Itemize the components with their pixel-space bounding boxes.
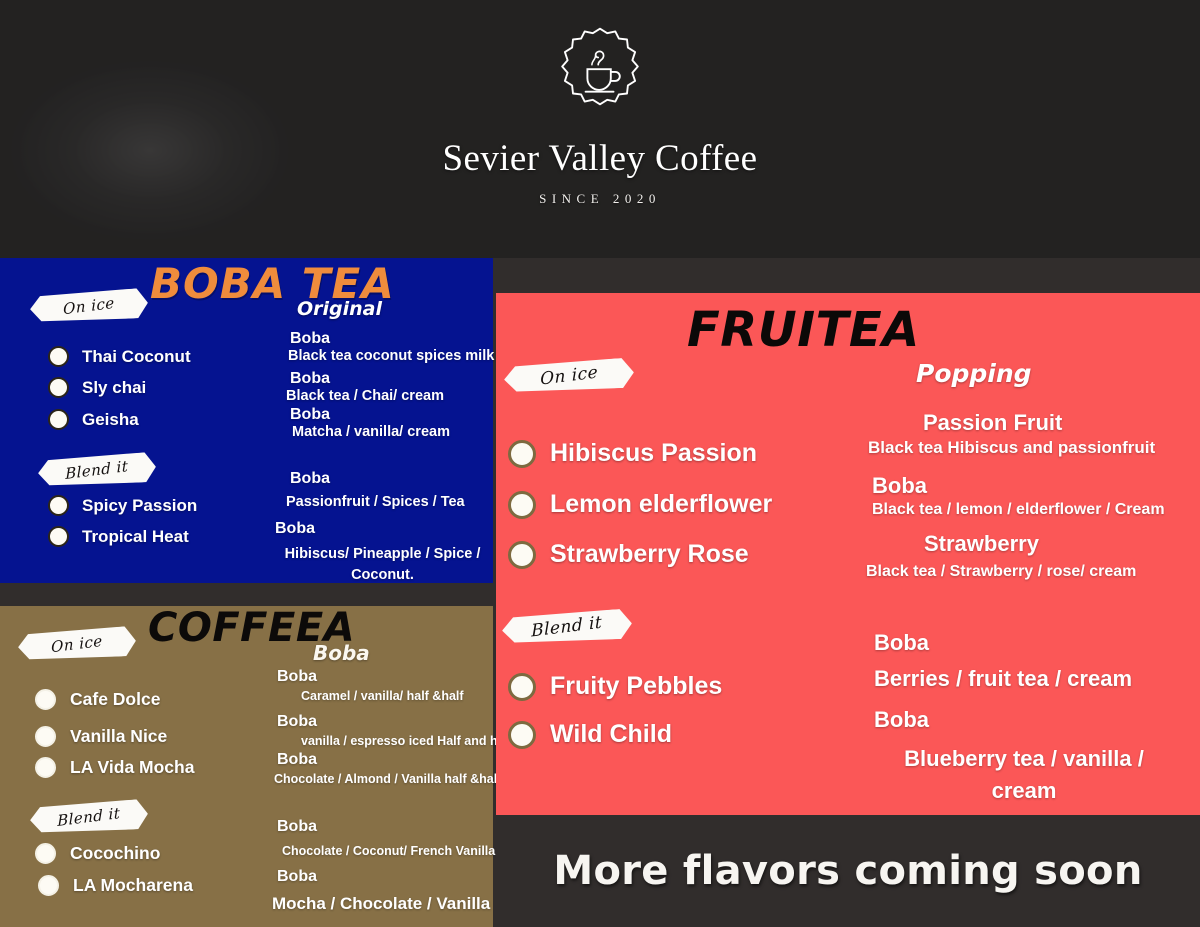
flavor-name: LA Vida Mocha: [70, 757, 194, 778]
recipe-ingredients: Black tea / lemon / elderflower / Cream: [872, 501, 1165, 519]
recipe-thai-coconut: Boba Black tea coconut spices milk: [290, 330, 494, 364]
recipe-label: Boba: [275, 520, 490, 538]
menu-item-wild-child[interactable]: Wild Child: [508, 720, 672, 749]
recipe-ingredients: Black tea / Chai/ cream: [286, 388, 444, 404]
bullet-dot-icon: [35, 757, 56, 778]
recipe-label: Boba: [277, 818, 495, 836]
flavor-name: Lemon elderflower: [550, 490, 772, 519]
menu-item-thai-coconut[interactable]: Thai Coconut: [48, 346, 191, 367]
recipe-ingredients: vanilla / espresso iced Half and half: [301, 734, 512, 748]
menu-item-geisha[interactable]: Geisha: [48, 409, 139, 430]
brand-tagline: SINCE 2020: [539, 191, 661, 207]
recipe-label: Boba: [290, 330, 494, 348]
section-subtitle-boba-tea: Original: [297, 298, 382, 320]
flavor-name: Cafe Dolce: [70, 689, 160, 710]
ribbon-label: On ice: [63, 294, 115, 319]
recipe-lemon-elderflower: Boba Black tea / lemon / elderflower / C…: [872, 473, 1165, 519]
menu-item-hibiscus-passion[interactable]: Hibiscus Passion: [508, 439, 757, 468]
menu-board: Sevier Valley Coffee SINCE 2020 BOBA TEA…: [0, 0, 1200, 927]
section-subtitle-fruitea: Popping: [916, 359, 1032, 388]
bullet-dot-icon: [48, 377, 69, 398]
section-subtitle-coffeea: Boba: [313, 641, 370, 665]
recipe-label: Boba: [874, 707, 1164, 733]
recipe-label: Boba: [290, 406, 450, 424]
recipe-spicy-passion: Boba Passionfruit / Spices / Tea: [290, 470, 465, 510]
recipe-ingredients: Berries / fruit tea / cream: [874, 666, 1132, 692]
bullet-dot-icon: [508, 673, 536, 701]
flavor-name: Thai Coconut: [82, 347, 191, 367]
recipe-tropical-heat: Boba Hibiscus/ Pineapple / Spice / Cocon…: [275, 520, 490, 586]
recipe-label: Boba: [290, 370, 444, 388]
recipe-ingredients: Black tea coconut spices milk: [288, 348, 494, 364]
recipe-ingredients: Mocha / Chocolate / Vanilla: [272, 894, 490, 914]
recipe-ingredients: Caramel / vanilla/ half &half: [301, 689, 464, 703]
menu-item-cafe-dolce[interactable]: Cafe Dolce: [35, 689, 160, 710]
bullet-dot-icon: [48, 346, 69, 367]
recipe-ingredients: Blueberry tea / vanilla / cream: [874, 743, 1164, 807]
recipe-ingredients: Matcha / vanilla/ cream: [292, 424, 450, 440]
recipe-label: Boba: [277, 751, 501, 769]
flavor-name: Wild Child: [550, 720, 672, 749]
footer-message: More flavors coming soon: [553, 848, 1142, 894]
recipe-ingredients: Hibiscus/ Pineapple / Spice / Coconut.: [275, 544, 490, 586]
flavor-name: LA Mocharena: [73, 875, 193, 896]
bullet-dot-icon: [48, 526, 69, 547]
bullet-dot-icon: [38, 875, 59, 896]
recipe-ingredients: Black tea / Strawberry / rose/ cream: [866, 563, 1136, 581]
ribbon-label: Blend it: [57, 804, 120, 830]
recipe-sly-chai: Boba Black tea / Chai/ cream: [290, 370, 444, 404]
ribbon-label: Blend it: [531, 612, 602, 641]
recipe-ingredients: Chocolate / Coconut/ French Vanilla: [282, 844, 495, 858]
footer-banner: More flavors coming soon: [496, 815, 1200, 927]
recipe-label: Boba: [277, 868, 490, 886]
recipe-la-mocharena: Boba Mocha / Chocolate / Vanilla: [277, 868, 490, 914]
recipe-vanilla-nice: Boba vanilla / espresso iced Half and ha…: [277, 713, 512, 748]
coffee-cup-badge-icon: [555, 26, 645, 116]
recipe-ingredients: Black tea Hibiscus and passionfruit: [868, 438, 1155, 458]
menu-item-spicy-passion[interactable]: Spicy Passion: [48, 495, 197, 516]
menu-item-sly-chai[interactable]: Sly chai: [48, 377, 146, 398]
ribbon-label: Blend it: [65, 457, 128, 483]
menu-item-la-vida-mocha[interactable]: LA Vida Mocha: [35, 757, 194, 778]
recipe-label: Passion Fruit: [923, 410, 1155, 436]
bullet-dot-icon: [35, 726, 56, 747]
ribbon-label: On ice: [51, 632, 103, 657]
bullet-dot-icon: [508, 440, 536, 468]
header-banner: Sevier Valley Coffee SINCE 2020: [0, 0, 1200, 258]
flavor-name: Sly chai: [82, 378, 146, 398]
recipe-label: Boba: [290, 470, 465, 488]
recipe-label: Strawberry: [924, 531, 1136, 557]
bullet-dot-icon: [508, 491, 536, 519]
recipe-cocochino: Boba Chocolate / Coconut/ French Vanilla: [277, 818, 495, 858]
menu-item-strawberry-rose[interactable]: Strawberry Rose: [508, 540, 749, 569]
recipe-wild-child: Boba Blueberry tea / vanilla / cream: [874, 707, 1164, 807]
flavor-name: Fruity Pebbles: [550, 672, 722, 701]
brand-name: Sevier Valley Coffee: [443, 140, 758, 177]
recipe-la-vida-mocha: Boba Chocolate / Almond / Vanilla half &…: [277, 751, 501, 786]
flavor-name: Hibiscus Passion: [550, 439, 757, 468]
flavor-name: Cocochino: [70, 843, 160, 864]
recipe-label: Boba: [872, 473, 1165, 499]
ribbon-label: On ice: [540, 362, 598, 389]
recipe-ingredients: Chocolate / Almond / Vanilla half &half: [274, 772, 501, 786]
recipe-label: Boba: [277, 713, 512, 731]
flavor-name: Geisha: [82, 410, 139, 430]
menu-item-tropical-heat[interactable]: Tropical Heat: [48, 526, 189, 547]
flavor-name: Strawberry Rose: [550, 540, 749, 569]
bullet-dot-icon: [508, 541, 536, 569]
menu-item-cocochino[interactable]: Cocochino: [35, 843, 160, 864]
bullet-dot-icon: [35, 689, 56, 710]
recipe-cafe-dolce: Boba Caramel / vanilla/ half &half: [277, 668, 464, 703]
bullet-dot-icon: [35, 843, 56, 864]
recipe-ingredients: Passionfruit / Spices / Tea: [286, 494, 465, 510]
recipe-fruity-pebbles: Boba Berries / fruit tea / cream: [874, 630, 1132, 692]
menu-item-la-mocharena[interactable]: LA Mocharena: [38, 875, 193, 896]
bullet-dot-icon: [508, 721, 536, 749]
section-title-fruitea: FRUITEA: [687, 302, 920, 358]
recipe-label: Boba: [277, 668, 464, 686]
recipe-hibiscus-passion: Passion Fruit Black tea Hibiscus and pas…: [868, 410, 1155, 458]
recipe-strawberry-rose: Strawberry Black tea / Strawberry / rose…: [866, 531, 1136, 581]
flavor-name: Vanilla Nice: [70, 726, 167, 747]
menu-item-fruity-pebbles[interactable]: Fruity Pebbles: [508, 672, 722, 701]
flavor-name: Tropical Heat: [82, 527, 189, 547]
recipe-label: Boba: [874, 630, 1132, 656]
menu-item-vanilla-nice[interactable]: Vanilla Nice: [35, 726, 167, 747]
menu-item-lemon-elderflower[interactable]: Lemon elderflower: [508, 490, 772, 519]
bullet-dot-icon: [48, 409, 69, 430]
bullet-dot-icon: [48, 495, 69, 516]
recipe-geisha: Boba Matcha / vanilla/ cream: [290, 406, 450, 440]
flavor-name: Spicy Passion: [82, 496, 197, 516]
